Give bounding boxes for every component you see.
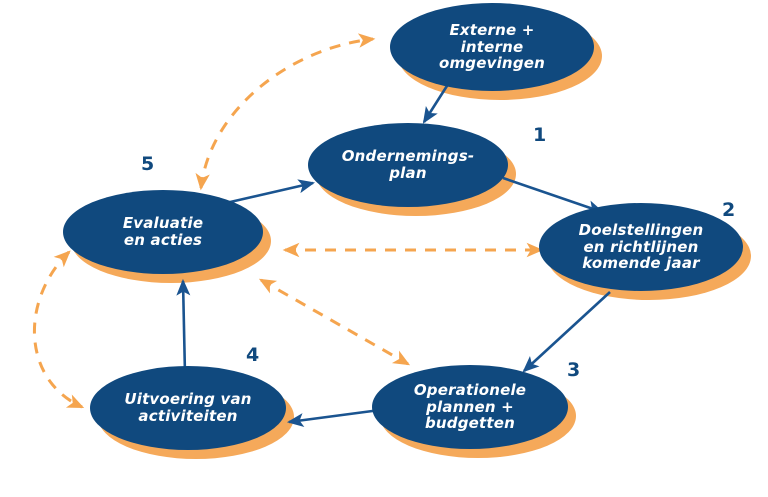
node-operationele-plannen[interactable] — [372, 365, 568, 449]
node-evaluatie-acties[interactable] — [63, 190, 263, 274]
step-number-2: 2 — [722, 201, 735, 220]
node-uitvoering-activiteiten[interactable] — [90, 366, 286, 450]
step-number-3: 3 — [567, 361, 580, 380]
arrow-ondernemingsplan-to-doelstellingen — [503, 178, 602, 212]
dashed-evaluatie-operationele — [261, 280, 408, 364]
node-ellipses — [63, 3, 743, 450]
dashed-evaluatie-uitvoering — [34, 252, 82, 407]
step-number-1: 1 — [533, 126, 546, 145]
arrow-operationele-to-uitvoering — [289, 410, 380, 422]
step-number-5: 5 — [141, 155, 154, 174]
arrow-uitvoering-to-evaluatie — [183, 281, 185, 375]
node-doelstellingen[interactable] — [539, 203, 743, 291]
step-number-4: 4 — [246, 346, 259, 365]
node-ondernemingsplan[interactable] — [308, 123, 508, 207]
diagram-canvas: Externe + interne omgevingen Onderneming… — [0, 0, 768, 497]
diagram-graphics — [0, 0, 768, 497]
node-externe-interne-omgevingen[interactable] — [390, 3, 594, 91]
